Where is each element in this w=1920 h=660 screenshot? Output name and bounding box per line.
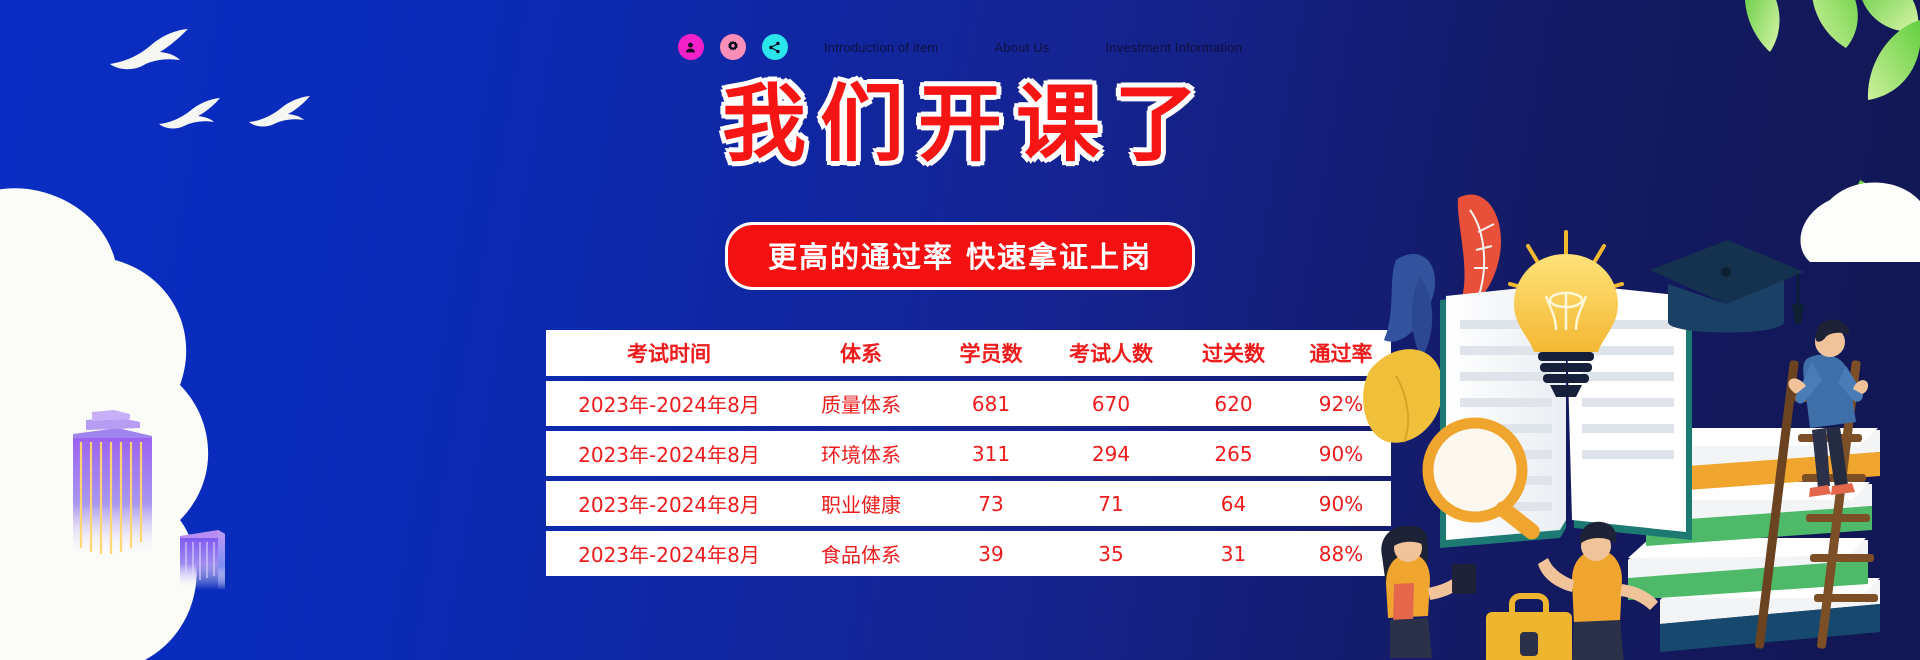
table-row: 2023年-2024年8月 食品体系 39 35 31 88% [546,531,1391,576]
table-row: 2023年-2024年8月 质量体系 681 670 620 92% [546,381,1391,426]
cell-examinees: 294 [1046,442,1176,466]
cell-examinees: 35 [1046,542,1176,566]
nav-link-investment-information[interactable]: Investment Information [1106,40,1243,55]
cell-examinees: 71 [1046,492,1176,516]
column-header-system: 体系 [786,338,936,368]
cell-period: 2023年-2024年8月 [546,489,786,518]
cell-system: 食品体系 [786,539,936,568]
nav-link-about-us[interactable]: About Us [994,40,1049,55]
cell-passed: 31 [1176,542,1291,566]
graduation-cap-icon [1650,240,1804,333]
briefcase-icon [1486,596,1572,660]
exam-statistics-table: 考试时间 体系 学员数 考试人数 过关数 通过率 2023年-2024年8月 质… [546,330,1391,576]
user-icon[interactable] [678,34,704,60]
city-buildings-decor [40,390,320,590]
nav-link-group: Introduction of item About Us Investment… [824,40,1242,55]
cell-period: 2023年-2024年8月 [546,389,786,418]
cell-passed: 265 [1176,442,1291,466]
hero-subtitle-badge: 更高的通过率 快速拿证上岗 [725,222,1195,290]
promo-banner: Introduction of item About Us Investment… [0,0,1920,660]
cell-students: 311 [936,442,1046,466]
top-navigation: Introduction of item About Us Investment… [0,34,1920,60]
cell-students: 39 [936,542,1046,566]
table-header-row: 考试时间 体系 学员数 考试人数 过关数 通过率 [546,330,1391,376]
column-header-period: 考试时间 [546,338,786,368]
gear-icon[interactable] [720,34,746,60]
cell-period: 2023年-2024年8月 [546,539,786,568]
nav-icon-group [678,34,788,60]
column-header-passed: 过关数 [1176,338,1291,368]
cell-students: 681 [936,392,1046,416]
cell-examinees: 670 [1046,392,1176,416]
column-header-students: 学员数 [936,338,1046,368]
share-icon[interactable] [762,34,788,60]
cell-passed: 64 [1176,492,1291,516]
cell-students: 73 [936,492,1046,516]
table-row: 2023年-2024年8月 环境体系 311 294 265 90% [546,431,1391,476]
cell-period: 2023年-2024年8月 [546,439,786,468]
cell-system: 职业健康 [786,489,936,518]
education-illustration [1360,180,1920,660]
cell-system: 环境体系 [786,439,936,468]
cell-passed: 620 [1176,392,1291,416]
table-row: 2023年-2024年8月 职业健康 73 71 64 90% [546,481,1391,526]
cell-system: 质量体系 [786,389,936,418]
column-header-examinees: 考试人数 [1046,338,1176,368]
nav-link-introduction[interactable]: Introduction of item [824,40,939,55]
hero-headline: 我们开课了 [0,82,1920,166]
